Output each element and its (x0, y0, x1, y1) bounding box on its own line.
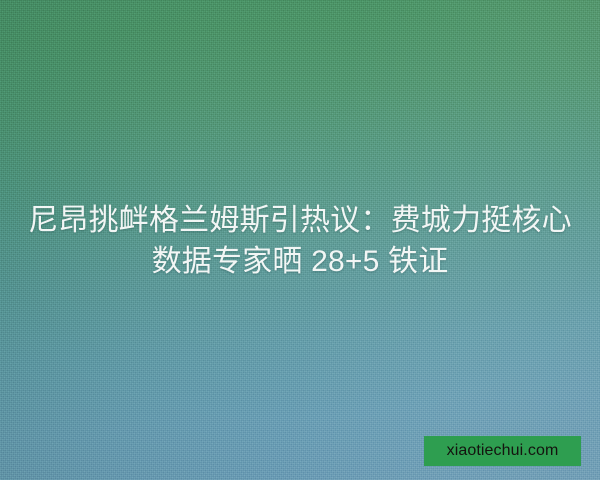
watermark-badge[interactable]: xiaotiechui.com (424, 436, 581, 466)
headline-text: 尼昂挑衅格兰姆斯引热议：费城力挺核心数据专家晒 28+5 铁证 (0, 200, 600, 282)
watermark-badge-label: xiaotiechui.com (447, 443, 559, 459)
article-cover-card: 尼昂挑衅格兰姆斯引热议：费城力挺核心数据专家晒 28+5 铁证 xiaotiec… (0, 0, 600, 480)
